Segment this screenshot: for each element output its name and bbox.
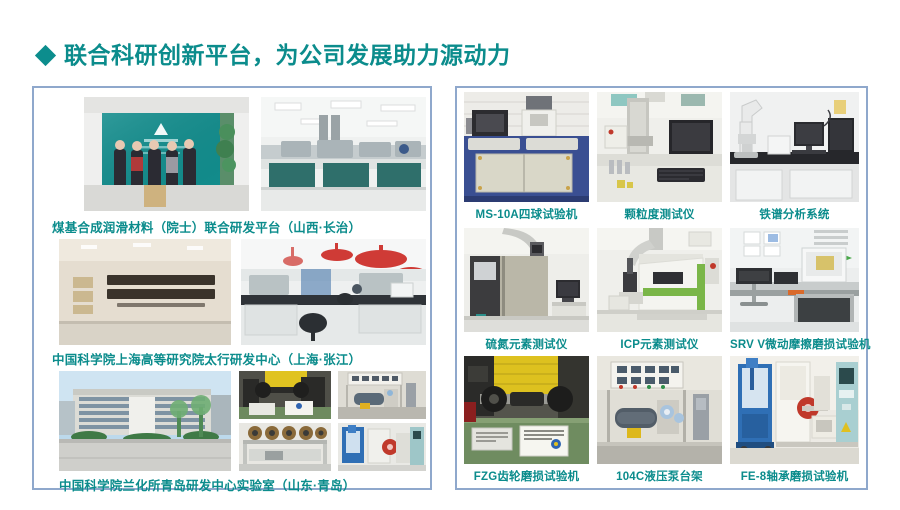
fe8-bearing-wear-tester-photo	[730, 356, 859, 464]
platform-caption-2: 中国科学院上海高等研究院太行研发中心（上海·张江）	[52, 349, 361, 368]
roller-test-rig-small	[239, 423, 331, 471]
equipment-item-8: 104C液压泵台架	[597, 356, 722, 482]
icp-element-analyzer-photo	[597, 228, 722, 332]
lab-bench-equipment-room	[261, 97, 426, 211]
fzg-gear-wear-tester-small	[239, 371, 331, 419]
equipment-item-2: 颗粒度测试仪	[597, 92, 722, 220]
test-equipment-panel: MS-10A四球试验机	[455, 86, 868, 490]
equipment-caption-4: 硫氮元素测试仪	[464, 336, 589, 352]
lab-wall-sign	[59, 239, 231, 345]
group-photo-teal-backdrop	[84, 97, 249, 211]
equipment-item-9: FE-8轴承磨损试验机	[730, 356, 859, 482]
equipment-caption-7: FZG齿轮磨损试验机	[464, 468, 589, 484]
equipment-caption-8: 104C液压泵台架	[597, 468, 722, 484]
institute-building-exterior	[59, 371, 231, 471]
research-platforms-panel: 煤基合成润滑材料（院士）联合研发平台（山西·长治）	[32, 86, 432, 490]
fzg-gear-wear-tester-photo	[464, 356, 589, 464]
equipment-caption-6: SRV V微动摩擦磨损试验机	[730, 336, 859, 352]
diamond-icon	[35, 45, 56, 66]
hydraulic-pump-test-bench-photo	[597, 356, 722, 464]
equipment-item-6: SRV V微动摩擦磨损试验机	[730, 228, 859, 350]
equipment-caption-2: 颗粒度测试仪	[597, 206, 722, 222]
equipment-item-1: MS-10A四球试验机	[464, 92, 589, 220]
platform-caption-3: 中国科学院兰化所青岛研发中心实验室（山东·青岛）	[59, 475, 355, 494]
104c-hydraulic-pump-bench-small	[338, 371, 426, 419]
equipment-item-3: 铁谱分析系统	[730, 92, 859, 220]
lab-corridor-red-hoods	[241, 239, 426, 345]
particle-counter-photo	[597, 92, 722, 202]
equipment-item-5: ICP元素测试仪	[597, 228, 722, 350]
equipment-caption-5: ICP元素测试仪	[597, 336, 722, 352]
page-title: 联合科研创新平台，为公司发展助力源动力	[38, 44, 511, 67]
equipment-caption-9: FE-8轴承磨损试验机	[730, 468, 859, 484]
equipment-caption-3: 铁谱分析系统	[730, 206, 859, 222]
four-ball-tester-photo	[464, 92, 589, 202]
platform-caption-1: 煤基合成润滑材料（院士）联合研发平台（山西·长治）	[52, 217, 361, 236]
ferrography-system-photo	[730, 92, 859, 202]
fe8-bearing-wear-tester-small	[338, 423, 426, 471]
srv-v-friction-wear-tester-photo	[730, 228, 859, 332]
equipment-item-7: FZG齿轮磨损试验机	[464, 356, 589, 482]
page-title-text: 联合科研创新平台，为公司发展助力源动力	[64, 44, 511, 67]
sulfur-nitrogen-analyzer-photo	[464, 228, 589, 332]
slide-root: 联合科研创新平台，为公司发展助力源动力	[0, 0, 900, 510]
equipment-item-4: 硫氮元素测试仪	[464, 228, 589, 350]
equipment-caption-1: MS-10A四球试验机	[464, 206, 589, 222]
